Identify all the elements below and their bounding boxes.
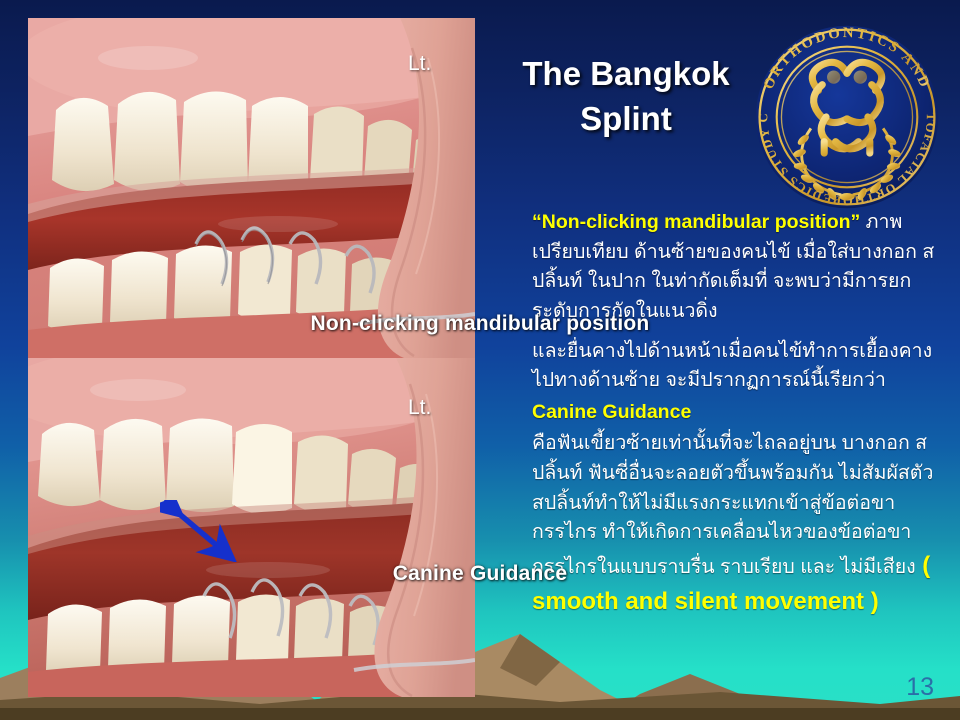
body-heading-canine-guidance: Canine Guidance: [532, 398, 946, 428]
side-label-lt-lower: Lt.: [408, 396, 431, 420]
body-paragraph-3: คือฟันเขี้ยวซ้ายเท่านั้นที่จะไถลอยู่บน บ…: [532, 429, 946, 620]
page-number: 13: [906, 673, 934, 702]
canine-guidance-arrow-annotation: [160, 500, 240, 562]
orthodontics-study-club-seal-icon: ORTHODONTICS AND DENTOFACIAL ORTHOPEDICS…: [752, 22, 942, 212]
photo-canine-guidance: Lt.: [28, 358, 475, 697]
photo-non-clicking-mandibular-position: Lt.: [28, 18, 475, 358]
body-heading-canine-guidance-wrap: Canine Guidance: [532, 398, 946, 428]
page-title-line-1: The Bangkok: [522, 55, 729, 92]
body-paragraph-1: “Non-clicking mandibular position” ภาพเป…: [532, 208, 946, 327]
body-text-block: “Non-clicking mandibular position” ภาพเป…: [532, 208, 946, 623]
caption-non-clicking-mandibular-position: Non-clicking mandibular position: [0, 312, 960, 336]
body-paragraph-3-thai: คือฟันเขี้ยวซ้ายเท่านั้นที่จะไถลอยู่บน บ…: [532, 432, 933, 578]
slide-root: Lt.: [0, 0, 960, 720]
page-title-line-2: Splint: [492, 97, 760, 142]
page-title: The Bangkok Splint: [492, 52, 760, 141]
body-paragraph-2: และยื่นคางไปด้านหน้าเมื่อคนไข้ทำการเยื้อ…: [532, 337, 946, 396]
caption-canine-guidance: Canine Guidance: [0, 562, 960, 586]
side-label-lt-upper: Lt.: [408, 52, 431, 76]
body-highlight-non-clicking-mandibular-position: “Non-clicking mandibular position”: [532, 211, 860, 233]
body-paragraph-2-thai: และยื่นคางไปด้านหน้าเมื่อคนไข้ทำการเยื้อ…: [532, 340, 932, 392]
